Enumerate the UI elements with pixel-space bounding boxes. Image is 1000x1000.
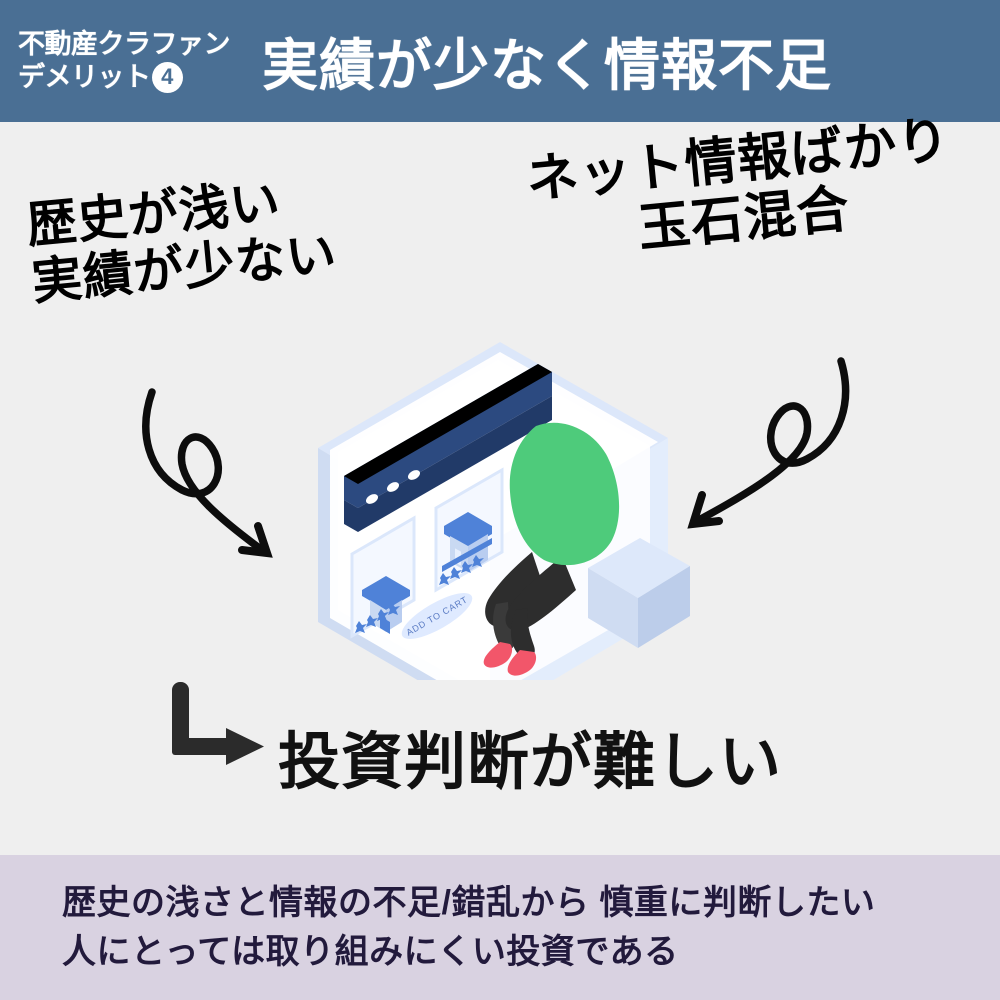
footer-line1: 歴史の浅さと情報の不足/錯乱から 慎重に判断したい: [62, 879, 1000, 928]
number-badge-four: 4: [152, 62, 183, 93]
conclusion-text: 投資判断が難しい: [278, 732, 782, 794]
footer-band: 歴史の浅さと情報の不足/錯乱から 慎重に判断したい 人にとっては取り組みにくい投…: [0, 855, 1000, 1000]
header-kicker-line1: 不動産クラファン: [18, 28, 230, 61]
curly-arrow-down-right-icon: [120, 380, 320, 570]
conclusion-row: 投資判断が難しい: [160, 676, 782, 794]
page-title: 実績が少なく情報不足: [262, 21, 832, 102]
callout-left: 歴史が浅い 実績が少ない: [24, 169, 340, 312]
header-kicker-line2-row: デメリット 4: [18, 61, 230, 94]
footer-line2: 人にとっては取り組みにくい投資である: [62, 928, 1000, 977]
header-kicker-line2: デメリット: [18, 61, 151, 94]
callout-right: ネット情報ばかり 玉石混合: [524, 111, 958, 270]
elbow-arrow-right-icon: [160, 676, 270, 786]
isometric-shopping-illustration: ADD TO CART: [300, 300, 700, 680]
header-band: 不動産クラファン デメリット 4 実績が少なく情報不足: [0, 0, 1000, 122]
header-kicker: 不動産クラファン デメリット 4: [18, 28, 230, 94]
